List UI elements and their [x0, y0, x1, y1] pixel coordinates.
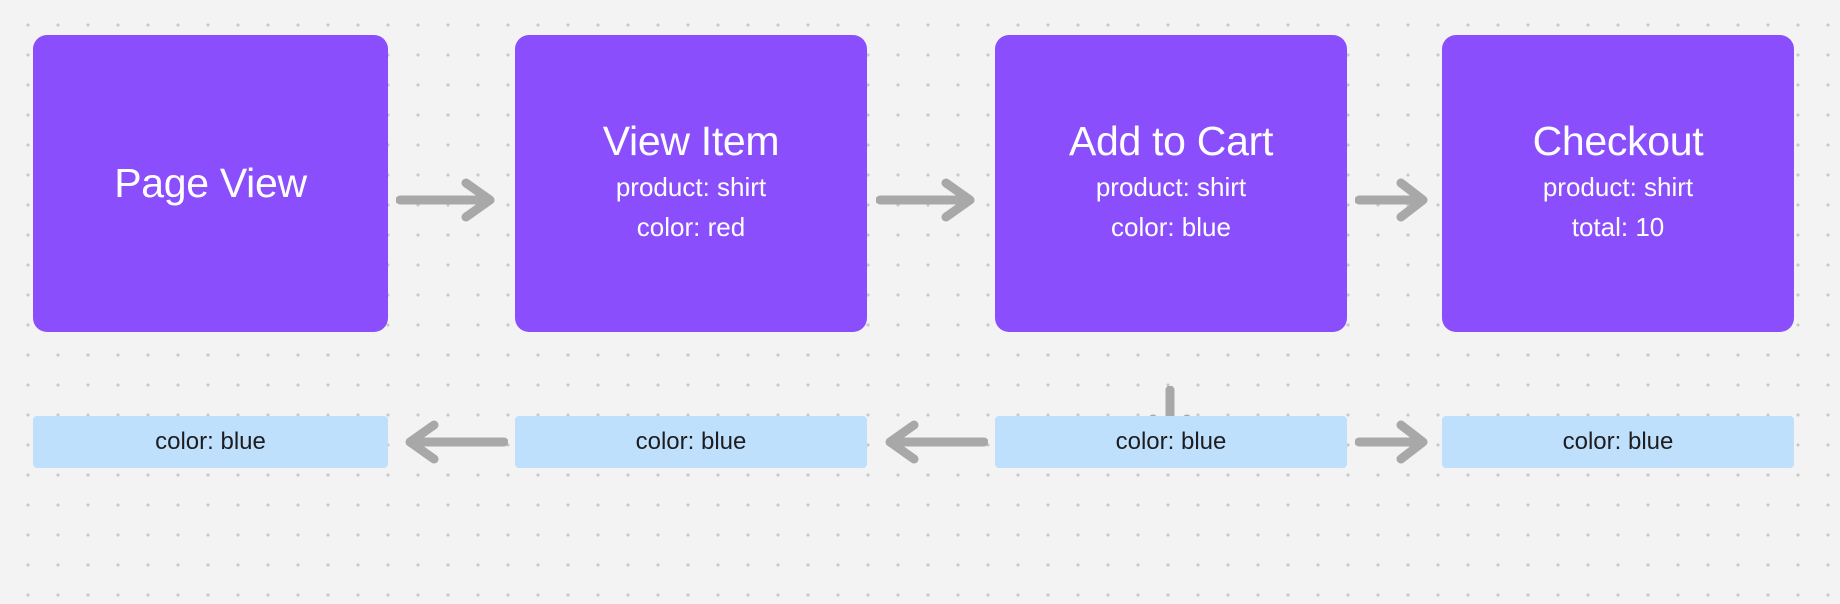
event-node-page-view[interactable]: Page View	[33, 35, 388, 332]
arrow-right-icon-view-item-to-add-to-cart	[876, 177, 986, 223]
event-title: Checkout	[1533, 120, 1704, 163]
event-properties: product: shirt total: 10	[1543, 167, 1693, 248]
event-property: total: 10	[1572, 207, 1665, 247]
event-properties: product: shirt color: red	[616, 167, 766, 248]
property-label: color: blue	[1116, 428, 1227, 456]
property-node-1[interactable]: color: blue	[33, 416, 388, 468]
arrow-right-icon-property-3-to-property-4	[1355, 419, 1437, 465]
property-label: color: blue	[1563, 428, 1674, 456]
arrow-right-icon-add-to-cart-to-checkout	[1355, 177, 1437, 223]
event-node-checkout[interactable]: Checkout product: shirt total: 10	[1442, 35, 1794, 332]
event-property: product: shirt	[616, 167, 766, 207]
event-property: color: blue	[1111, 207, 1231, 247]
event-properties: product: shirt color: blue	[1096, 167, 1246, 248]
event-title: Add to Cart	[1069, 120, 1273, 163]
event-property: product: shirt	[1543, 167, 1693, 207]
property-node-3[interactable]: color: blue	[995, 416, 1347, 468]
event-node-view-item[interactable]: View Item product: shirt color: red	[515, 35, 867, 332]
diagram-canvas[interactable]: Page View View Item product: shirt color…	[0, 0, 1840, 604]
property-node-4[interactable]: color: blue	[1442, 416, 1794, 468]
event-property: color: red	[637, 207, 745, 247]
property-node-2[interactable]: color: blue	[515, 416, 867, 468]
event-title: View Item	[603, 120, 780, 163]
event-title: Page View	[114, 162, 307, 205]
property-label: color: blue	[636, 428, 747, 456]
property-label: color: blue	[155, 428, 266, 456]
arrow-left-icon-property-2-to-property-1	[396, 419, 508, 465]
arrow-right-icon-page-view-to-view-item	[396, 177, 506, 223]
event-node-add-to-cart[interactable]: Add to Cart product: shirt color: blue	[995, 35, 1347, 332]
arrow-left-icon-property-3-to-property-2	[876, 419, 988, 465]
event-property: product: shirt	[1096, 167, 1246, 207]
